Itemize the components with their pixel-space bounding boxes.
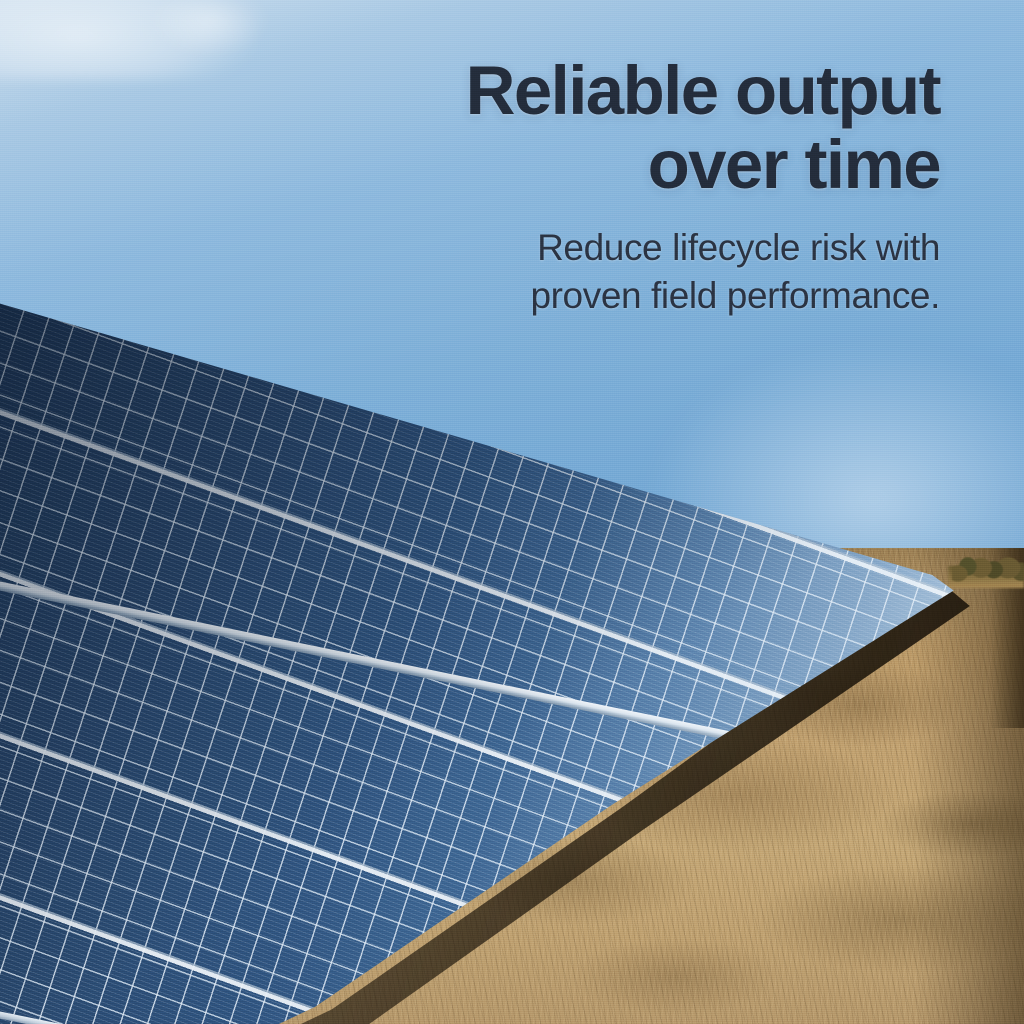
subheading-line-1: Reduce lifecycle risk with <box>537 227 940 268</box>
solar-panel-array <box>0 250 1024 1024</box>
headline-line-1: Reliable output <box>466 52 940 129</box>
page-subtitle: Reduce lifecycle risk withproven field p… <box>320 224 940 320</box>
headline-line-2: over time <box>648 126 940 203</box>
panel-near-shading <box>0 250 1024 1024</box>
subheading-line-2: proven field performance. <box>530 275 940 316</box>
page-title: Reliable outputover time <box>320 54 940 202</box>
marketing-hero-image: Reliable outputover time Reduce lifecycl… <box>0 0 1024 1024</box>
hero-copy-block: Reliable outputover time Reduce lifecycl… <box>320 54 940 320</box>
